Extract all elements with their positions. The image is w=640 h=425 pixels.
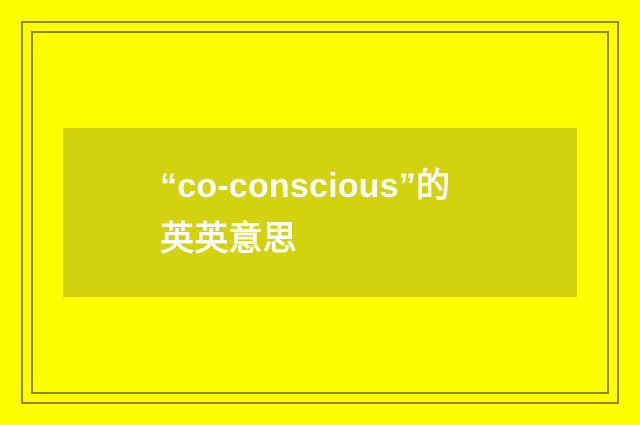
- page-title: “co-conscious”的英英意思: [160, 160, 480, 265]
- page-canvas: “co-conscious”的英英意思: [0, 0, 640, 425]
- title-card: “co-conscious”的英英意思: [63, 128, 577, 297]
